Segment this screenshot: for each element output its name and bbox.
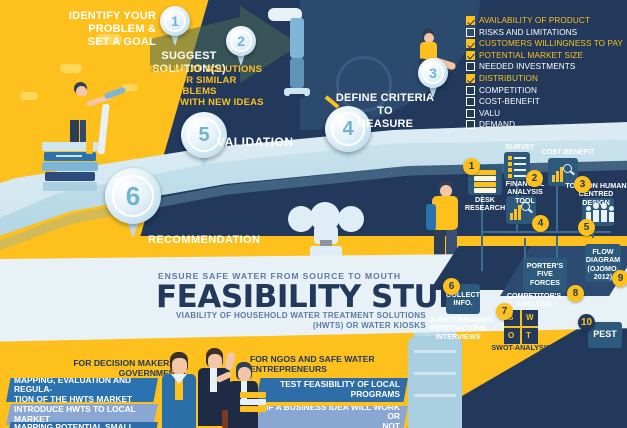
checkbox-unchecked-icon[interactable] [466,109,475,118]
step-2-sub-line1: RESEARCH WHAT SOLUTIONS [114,64,264,75]
checklist-label: COMPETITION [479,86,537,95]
methodology-1-number: 1 [463,158,480,175]
checkbox-checked-icon[interactable] [466,16,475,25]
subtitle-line2: (HWTS) OR WATER KIOSKS [176,321,426,331]
checklist-label: VALU [479,109,500,118]
checkbox-unchecked-icon[interactable] [466,86,475,95]
checklist-label: NEEDED INVESTMENTS [479,62,575,71]
audience-left-banner-3[interactable]: MAPPING POTENTIAL SMALL UTILITIES [6,422,158,428]
checklist-row[interactable]: VALU [466,109,622,118]
page-title: FEASIBILITY STUDY [156,279,483,315]
checklist-label: RISKS AND LIMITATIONS [479,28,577,37]
checklist-label: CUSTOMERS WILLINGNESS TO PAY [479,39,623,48]
step-1-heading: IDENTIFY YOUR PROBLEM & SET A GOAL [28,10,156,49]
methodology-4-label: FINANCIAL ANALYSIS TOOL [497,180,553,205]
methodology-10-sublabel: STRATEGY TOOL [562,352,627,360]
methodology-7-number: 7 [496,303,513,320]
checkbox-checked-icon[interactable] [466,51,475,60]
step-1-heading-line2: SET A GOAL [28,36,156,49]
audience-right-heading: FOR NGOS AND SAFE WATER ENTREPRENEURS [250,354,380,374]
subtitle-line1: VIABILITY OF HOUSEHOLD WATER TREATMENT S… [176,311,426,321]
checklist-row[interactable]: RISKS AND LIMITATIONS [466,28,622,37]
checkbox-unchecked-icon[interactable] [466,97,475,106]
checklist-row[interactable]: DEMAND [466,120,622,129]
infographic-canvas: 1 2 3 4 5 6 IDENTIFY YOUR PROBLEM & SET … [0,0,627,428]
step-pin-6[interactable]: 6 [105,168,161,238]
audience-right-banner-2[interactable]: IF A BUSINESS IDEA WILL WORK OR NOT [256,406,408,428]
step-3-heading-line2: MEASURE [330,118,440,131]
cloud-icon [60,64,82,73]
methodology-10-card-text: PEST [588,330,622,338]
step-2-sub-line2: EXIST FOR SIMILAR PROBLEMS [114,75,264,97]
methodology-6-subtext: QUESTIONNAIRES OBSERVATIONS INTERVIEWS [428,316,488,341]
swot-cell-t: T [526,331,531,340]
step-pin-6-number: 6 [105,168,161,224]
cloud-icon [20,92,38,100]
checklist-label: DEMAND [479,120,515,129]
checklist-label: AVAILABILITY OF PRODUCT [479,16,590,25]
step-2-subtext: RESEARCH WHAT SOLUTIONS EXIST FOR SIMILA… [114,64,264,108]
methodology-8-number: 8 [567,285,584,302]
step-3-heading: DEFINE CRITERIA TO MEASURE [330,92,440,131]
methodology-7-label: SWOT-ANALYSIS [488,344,554,352]
step-3-heading-line1: DEFINE CRITERIA TO [330,92,440,118]
step-pin-3-number: 3 [418,58,448,88]
step-pin-1-number: 1 [160,6,190,36]
checklist-row[interactable]: COST-BENEFIT [466,97,622,106]
checklist-row[interactable]: AVAILABILITY OF PRODUCT [466,16,622,25]
checklist-row[interactable]: NEEDED INVESTMENTS [466,62,622,71]
pencil-icon [86,112,93,154]
checklist-label: COST-BENEFIT [479,97,540,106]
methodology-3-label: COST-BENEFIT [540,148,596,156]
swot-cell-o: O [508,331,514,340]
step-pin-1[interactable]: 1 [160,6,190,46]
methodology-2-label: SURVEY [500,143,540,151]
methodology-9-number: 9 [612,270,627,287]
methodology-2-number: 2 [526,170,543,187]
step-5-label: VALIDATION [217,135,294,149]
subtitle: VIABILITY OF HOUSEHOLD WATER TREATMENT S… [176,311,426,330]
audience-left-banner-1[interactable]: MAPPING, EVALUATION AND REGULA- TION OF … [6,378,158,402]
checklist-label: POTENTIAL MARKET SIZE [479,51,583,60]
checklist-row[interactable]: COMPETITION [466,86,622,95]
checkbox-checked-icon[interactable] [466,74,475,83]
audience-left-banner-2[interactable]: INTRODUCE HWTS TO LOCAL MARKET [6,404,158,425]
checkbox-unchecked-icon[interactable] [466,120,475,129]
checkbox-checked-icon[interactable] [466,39,475,48]
checklist-row[interactable]: POTENTIAL MARKET SIZE [466,51,622,60]
checklist-row[interactable]: DISTRIBUTION [466,74,622,83]
methodology-4-number: 4 [532,215,549,232]
step-6-label: RECOMMENDATION [148,234,260,246]
connector-line [481,231,483,271]
methodology-8-label: COMPETITOR'S ANALYSIS [505,292,563,309]
audience-right-banner-1[interactable]: TEST FEASIBILITY OF LOCAL PROGRAMS [256,378,408,402]
checkbox-unchecked-icon[interactable] [466,28,475,37]
checklist-row[interactable]: CUSTOMERS WILLINGNESS TO PAY [466,39,622,48]
checkbox-unchecked-icon[interactable] [466,62,475,71]
methodology-8-card-text: PORTER'S FIVE FORCES [523,262,567,287]
methodology-5-number: 5 [578,219,595,236]
checklist-label: DISTRIBUTION [479,74,538,83]
step-2-sub-line3: OR COME UP WITH NEW IDEAS [114,97,264,108]
methodology-3-number: 3 [574,176,591,193]
methodology-10-number: 10 [578,314,595,331]
criteria-checklist[interactable]: AVAILABILITY OF PRODUCTRISKS AND LIMITAT… [466,16,622,132]
methodology-6-number: 6 [443,278,460,295]
swot-cell-w: W [526,313,534,322]
step-1-heading-line1: IDENTIFY YOUR PROBLEM & [28,10,156,36]
